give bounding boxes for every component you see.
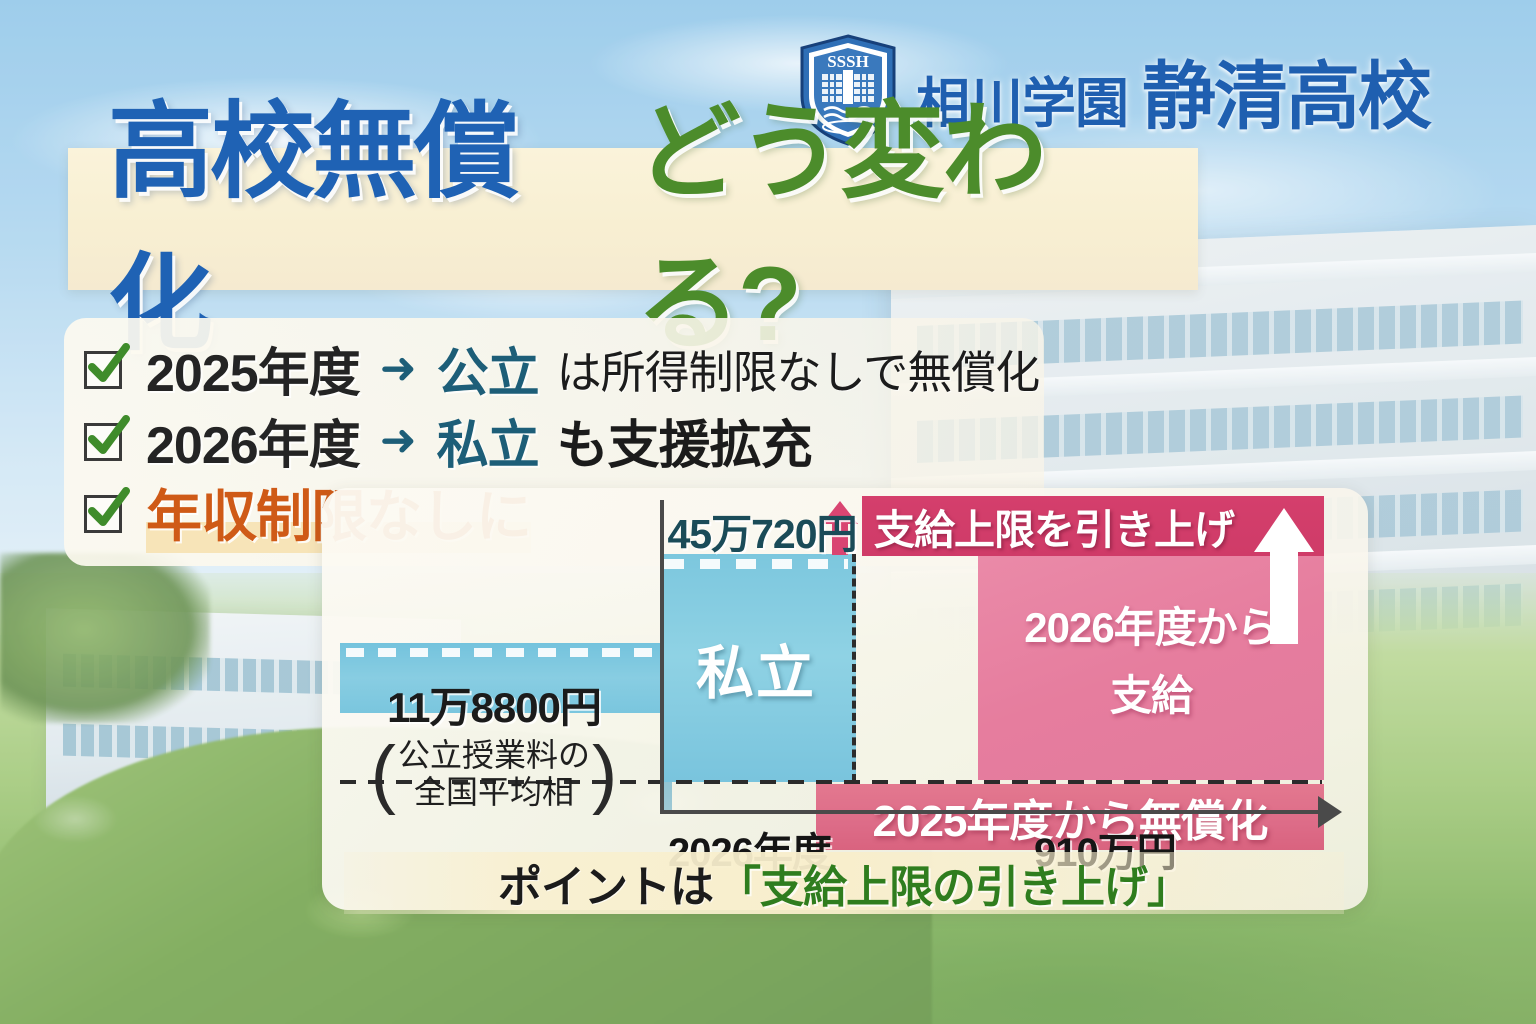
arrow-right-icon: ➜ (380, 415, 417, 466)
bar-dashed-top-edge (664, 559, 848, 569)
list-item: 2025年度 ➜ 公立 は所得制限なしで無償化 (82, 332, 1044, 404)
arrow-right-icon-axis (1318, 796, 1342, 828)
bar-label-private: 私立 (696, 626, 816, 710)
bullet-accent: 私立 (437, 403, 539, 478)
arrow-right-icon: ➜ (380, 343, 417, 394)
page-title: 高校無償化 どう変わる? (68, 148, 1198, 290)
bar-dashed-top-edge (346, 648, 656, 657)
value-label-upper: 45万720円 (662, 500, 862, 560)
paren-close: ) (592, 743, 617, 805)
value-label-lower-note-1: 公立授業料の (396, 737, 592, 774)
paren-open: ( (371, 743, 396, 805)
checkbox-checked-icon (82, 417, 128, 463)
bullet-year: 2025年度 (146, 331, 360, 406)
bottom-caption: ポイントは 「支給上限の引き上げ」 (344, 852, 1344, 914)
tuition-support-chart: 私立 支給上限を引き上げ 2026年度から 支給 2025年度から無償化 45万… (322, 488, 1368, 910)
annotation-from-2026-line2: 支給 (978, 662, 1324, 723)
list-item: 2026年度 ➜ 私立 も支援拡充 (82, 404, 1044, 476)
bullet-accent: 公立 (437, 331, 539, 406)
bar-upper-private: 私立 (660, 554, 856, 782)
bullet-year: 2026年度 (146, 403, 360, 478)
bullet-rest: も支援拡充 (557, 403, 812, 478)
chart-card: 私立 支給上限を引き上げ 2026年度から 支給 2025年度から無償化 45万… (322, 488, 1368, 910)
checkbox-checked-icon (82, 345, 128, 391)
bar-lower-public-average (340, 643, 662, 713)
bullet-rest: は所得制限なしで無償化 (557, 336, 1040, 401)
chart-x-axis (660, 810, 1322, 814)
caption-quoted: 「支給上限の引き上げ」 (717, 851, 1190, 915)
arrow-up-icon-large (1252, 506, 1316, 646)
checkbox-checked-icon (82, 489, 128, 535)
caption-lead: ポイントは (498, 851, 713, 915)
annotation-raise-cap-label: 支給上限を引き上げ (874, 496, 1234, 556)
